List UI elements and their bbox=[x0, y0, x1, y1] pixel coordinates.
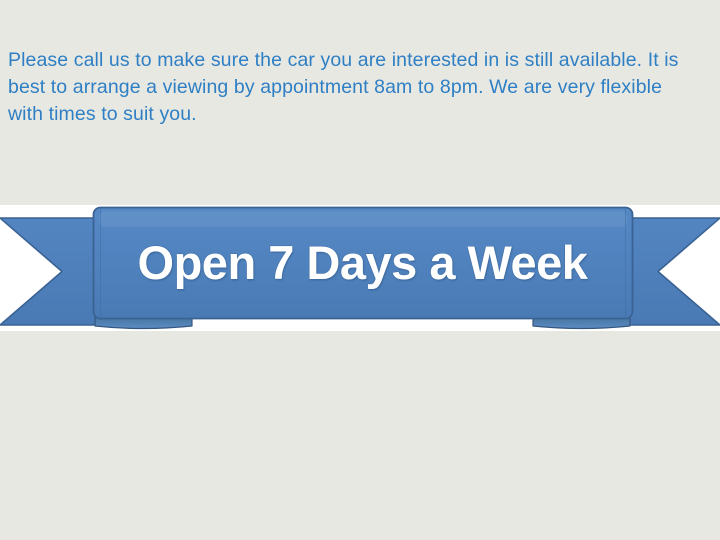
intro-paragraph: Please call us to make sure the car you … bbox=[8, 47, 698, 128]
slide-canvas: Please call us to make sure the car you … bbox=[0, 0, 720, 540]
ribbon-banner bbox=[0, 195, 720, 345]
ribbon-center-panel bbox=[94, 208, 633, 319]
ribbon-left-tail bbox=[0, 218, 108, 325]
